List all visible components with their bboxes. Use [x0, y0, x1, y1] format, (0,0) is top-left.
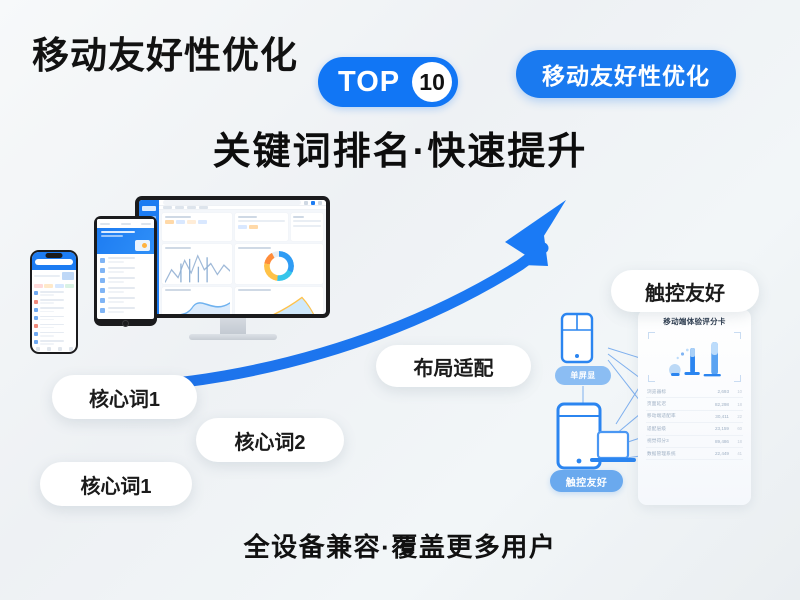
- monitor-screen: [135, 196, 330, 318]
- row-delta: 18: [733, 402, 742, 407]
- tablet-screen: [97, 219, 154, 319]
- top-badge-word: TOP: [338, 66, 400, 99]
- pill-keyword-3: 核心词1: [40, 462, 192, 506]
- row-value: 82,298: [712, 402, 729, 407]
- table-row: 页面延迟 82,298 18: [646, 398, 743, 410]
- row-label: 视觉得分3: [647, 438, 708, 444]
- row-delta: 60: [733, 426, 742, 431]
- footer-tagline: 全设备兼容·覆盖更多用户: [0, 527, 800, 564]
- score-card-chart: [648, 332, 741, 382]
- list-item: [100, 297, 151, 303]
- dashboard-area-chart-1: [162, 287, 232, 315]
- dashboard-side-card: [291, 213, 323, 241]
- list-item: [100, 307, 151, 313]
- dashboard-bar-chart: [162, 244, 232, 284]
- monitor-base: [189, 334, 277, 340]
- row-delta: 10: [733, 389, 742, 394]
- row-label: 页面延迟: [647, 401, 708, 407]
- list-item: [100, 267, 151, 273]
- table-row: 适配层级 23,159 60: [646, 423, 743, 435]
- list-item: [34, 332, 74, 337]
- row-value: 23,159: [712, 426, 729, 431]
- dashboard-area-chart-2: [235, 287, 323, 315]
- tablet-home-button: [122, 320, 129, 327]
- dashboard-donut-chart: [235, 244, 323, 284]
- desktop-monitor-mockup: [135, 196, 330, 340]
- row-label: 移动端适配率: [647, 413, 708, 419]
- score-card-title: 移动端体验评分卡: [646, 316, 743, 327]
- row-label: 适配层级: [647, 426, 708, 432]
- list-item: [34, 307, 74, 312]
- row-value: 30,411: [712, 414, 729, 419]
- diagram-tag-touch-friendly: 触控友好: [550, 470, 623, 492]
- list-item: [34, 316, 74, 321]
- list-item: [100, 257, 151, 263]
- top-badge-number: 10: [412, 62, 452, 102]
- table-row: 移动端适配率 30,411 22: [646, 411, 743, 423]
- score-card: 移动端体验评分卡 浏览器: [638, 309, 751, 505]
- dashboard-filter-card: [162, 213, 232, 241]
- list-item: [100, 287, 151, 293]
- top-rank-badge: TOP 10: [318, 57, 458, 107]
- diagram-laptop-icon: [598, 432, 628, 458]
- table-row: 数据管理系统 22,449 41: [646, 448, 743, 460]
- tablet-mockup: [94, 216, 157, 326]
- row-value: 22,449: [712, 451, 729, 456]
- list-item: [100, 277, 151, 283]
- row-delta: 22: [733, 414, 742, 419]
- list-item: [34, 299, 74, 304]
- table-row: 浏览器标 2,693 10: [646, 386, 743, 398]
- phone-bottom-nav: [32, 347, 76, 351]
- phone-mockup: [30, 250, 78, 354]
- header-tag-pill: 移动友好性优化: [516, 50, 736, 98]
- phone-screen: [32, 252, 76, 352]
- score-card-table: 浏览器标 2,693 10 页面延迟 82,298 18 移动端适配率 30,4…: [646, 386, 743, 460]
- row-value: 89,486: [712, 439, 729, 444]
- list-item: [34, 291, 74, 296]
- pill-layout-adapt: 布局适配: [376, 345, 531, 387]
- phone-promo-card: [32, 270, 76, 282]
- row-label: 数据管理系统: [647, 451, 708, 457]
- phone-notch: [46, 253, 63, 258]
- dashboard-kpi-card: [235, 213, 287, 241]
- table-row: 视觉得分3 89,486 18: [646, 436, 743, 448]
- page-title: 移动友好性优化: [32, 25, 298, 79]
- phone-category-tags: [32, 282, 76, 290]
- diagram-tag-single-screen: 单屏显: [555, 366, 611, 385]
- pill-keyword-2: 核心词2: [196, 418, 344, 462]
- list-item: [34, 324, 74, 329]
- page-subtitle: 关键词排名·快速提升: [0, 120, 800, 175]
- pill-touch-friendly: 触控友好: [611, 270, 759, 312]
- row-delta: 18: [733, 439, 742, 444]
- list-item: [34, 340, 74, 345]
- mobile-score-diagram: 单屏显 触控友好 移动端体验评分卡: [548, 306, 753, 511]
- device-mockup-group: [22, 188, 322, 388]
- tablet-banner: [97, 228, 154, 254]
- row-delta: 41: [733, 451, 742, 456]
- poster-canvas: 移动友好性优化 TOP 10 移动友好性优化 关键词排名·快速提升: [0, 0, 800, 600]
- row-label: 浏览器标: [647, 389, 708, 395]
- row-value: 2,693: [712, 389, 729, 394]
- monitor-stand: [220, 318, 246, 334]
- pill-keyword-1: 核心词1: [52, 375, 197, 419]
